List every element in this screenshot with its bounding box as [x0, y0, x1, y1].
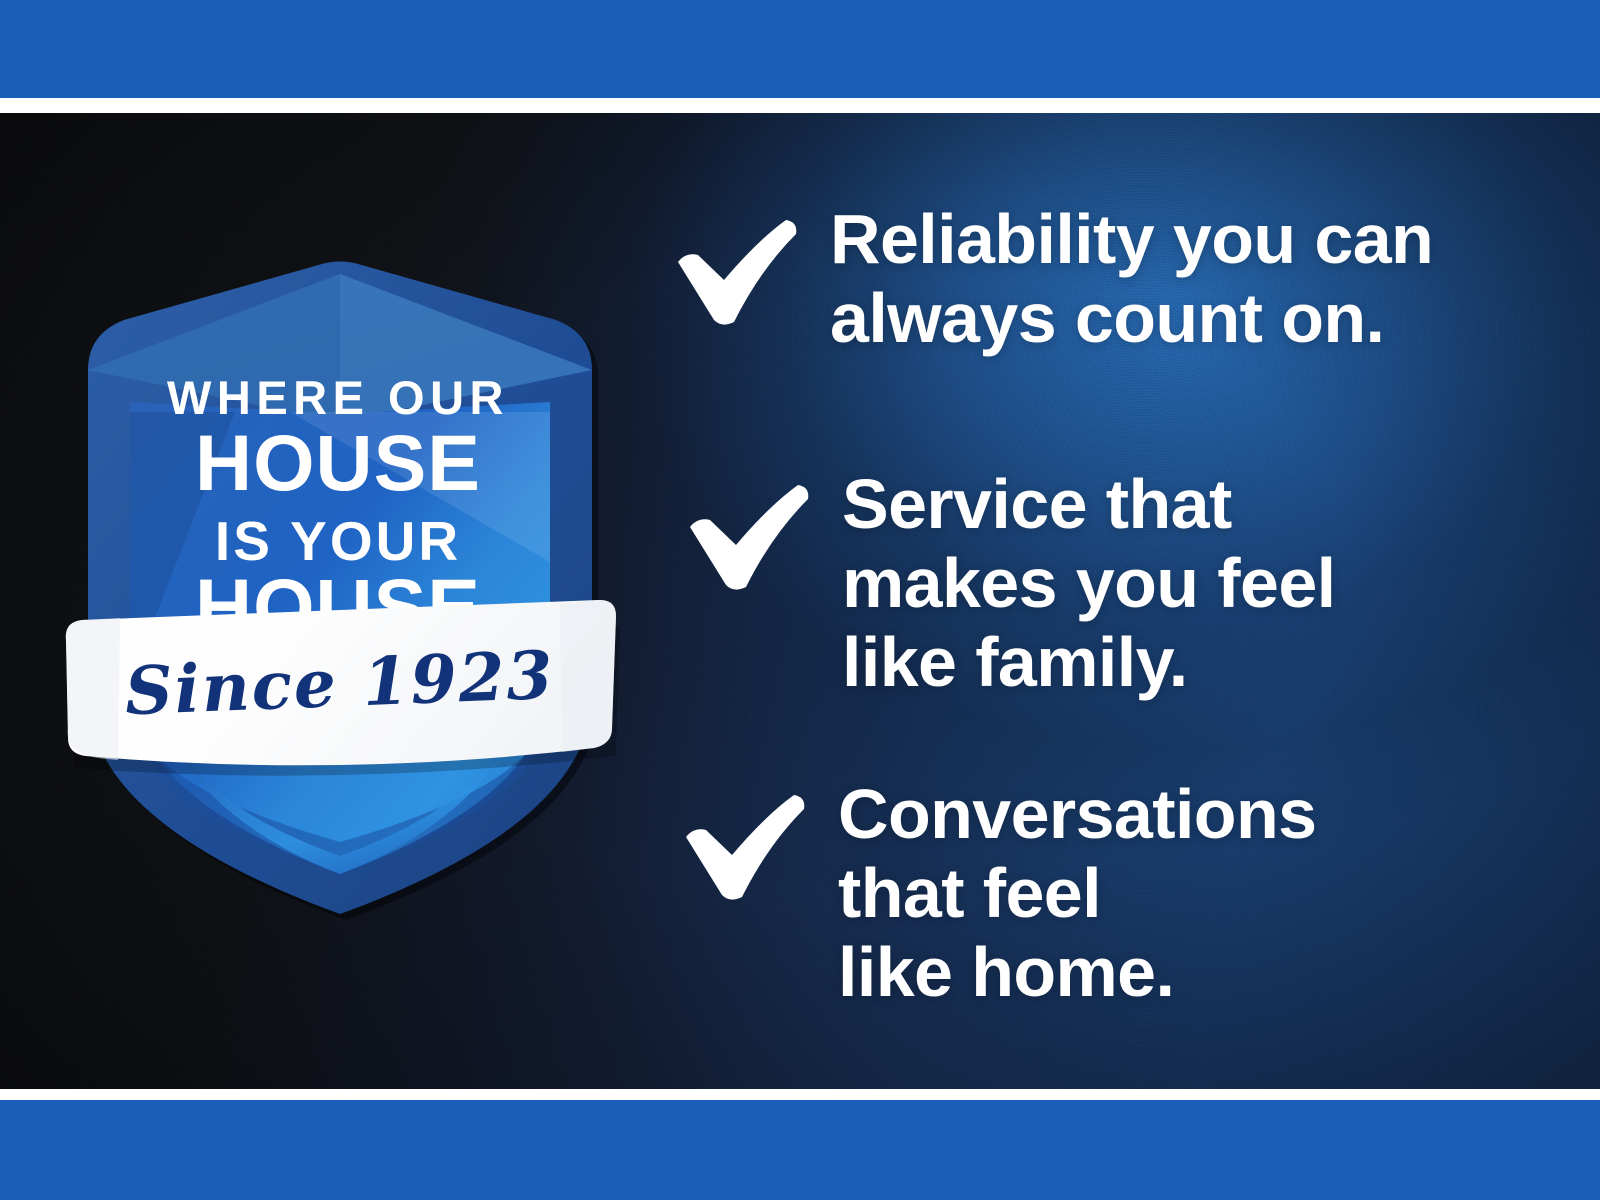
list-item-label: Conversations that feel like home. [838, 775, 1316, 1012]
list-item-label: Reliability you can always count on. [830, 200, 1433, 358]
checkmark-icon [684, 479, 814, 597]
ribbon-left-curl [66, 618, 120, 760]
checkmark-icon [680, 789, 810, 907]
checkmark-icon [672, 214, 802, 332]
bottom-white-divider [0, 1089, 1600, 1100]
bottom-brand-bar [0, 1100, 1600, 1200]
ribbon-since-text: Since 1923 [124, 636, 556, 730]
list-item: Reliability you can always count on. [672, 200, 1433, 358]
list-item: Service that makes you feel like family. [684, 465, 1336, 702]
top-brand-bar [0, 0, 1600, 98]
ribbon-right-curl [560, 600, 616, 752]
shield-line-2: HOUSE [195, 418, 481, 507]
promo-graphic-canvas: WHERE OUR HOUSE IS YOUR HOUSE Since 1923 [0, 0, 1600, 1200]
list-item: Conversations that feel like home. [680, 775, 1316, 1012]
list-item-label: Service that makes you feel like family. [842, 465, 1336, 702]
heritage-shield-badge: WHERE OUR HOUSE IS YOUR HOUSE Since 1923 [60, 262, 620, 932]
top-white-divider [0, 98, 1600, 113]
shield-line-1: WHERE OUR [167, 371, 509, 424]
since-ribbon: Since 1923 [66, 600, 620, 776]
